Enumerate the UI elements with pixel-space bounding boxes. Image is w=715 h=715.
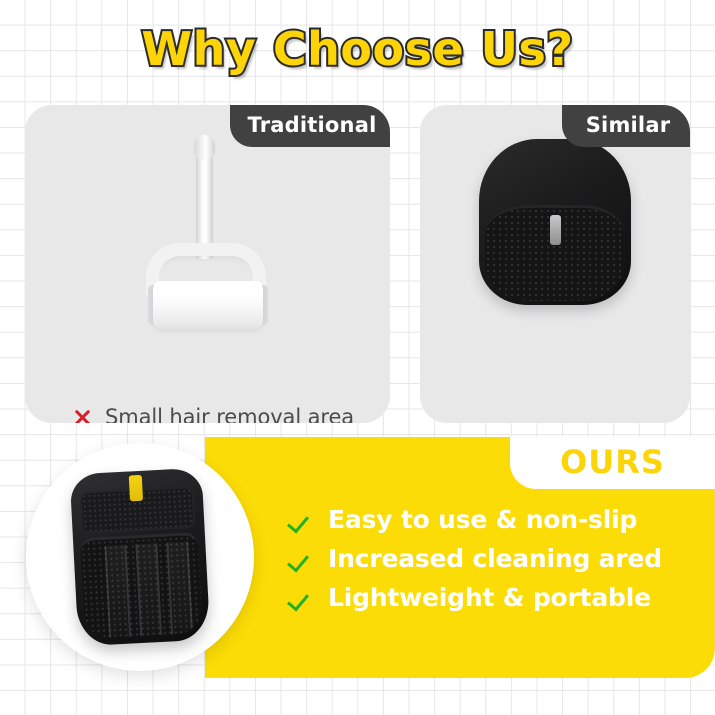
comparison-card-traditional: Traditional Small hair removal area Inco… xyxy=(25,105,390,423)
comparison-card-similar: Similar Easy to slip No holding strap xyxy=(420,105,690,423)
ours-panel: OURS Easy to use & non-slip Increased cl… xyxy=(205,437,715,678)
cons-list-traditional: Small hair removal area Incomplete hair … xyxy=(73,405,360,423)
pro-text: Easy to use & non-slip xyxy=(328,505,637,534)
check-icon xyxy=(290,509,312,531)
finger-slot xyxy=(104,545,131,639)
check-icon xyxy=(290,548,312,570)
product-photo-similar xyxy=(420,131,690,391)
badge-ours: OURS xyxy=(510,437,715,489)
con-text: Small hair removal area xyxy=(105,405,354,423)
page-title: Why Choose Us? xyxy=(0,22,715,76)
roller-handle xyxy=(196,139,213,259)
check-icon xyxy=(290,587,312,609)
badge-similar-label: Similar xyxy=(586,113,671,137)
cross-icon xyxy=(73,408,92,424)
list-item: Increased cleaning ared xyxy=(290,544,662,573)
badge-traditional-label: Traditional xyxy=(248,113,377,137)
finger-slot xyxy=(166,541,193,639)
list-item: Lightweight & portable xyxy=(290,583,662,612)
black-mesh-pad-icon xyxy=(479,139,631,305)
list-item: Easy to use & non-slip xyxy=(290,505,662,534)
our-mesh-glove-icon xyxy=(70,468,211,647)
pro-text: Increased cleaning ared xyxy=(328,544,662,573)
product-photo-ours xyxy=(26,443,254,671)
badge-ours-label: OURS xyxy=(560,443,665,481)
pro-text: Lightweight & portable xyxy=(328,583,651,612)
lint-roller-icon xyxy=(128,139,288,339)
finger-slot xyxy=(135,543,162,639)
badge-traditional: Traditional xyxy=(230,105,390,147)
product-photo-traditional xyxy=(25,131,390,401)
yellow-pull-tab xyxy=(129,475,143,502)
gray-tag xyxy=(550,215,561,245)
finger-pocket xyxy=(80,532,203,639)
roller-barrel xyxy=(153,281,263,329)
badge-similar: Similar xyxy=(562,105,690,147)
list-item: Small hair removal area xyxy=(73,405,360,423)
pros-list: Easy to use & non-slip Increased cleanin… xyxy=(290,505,662,622)
